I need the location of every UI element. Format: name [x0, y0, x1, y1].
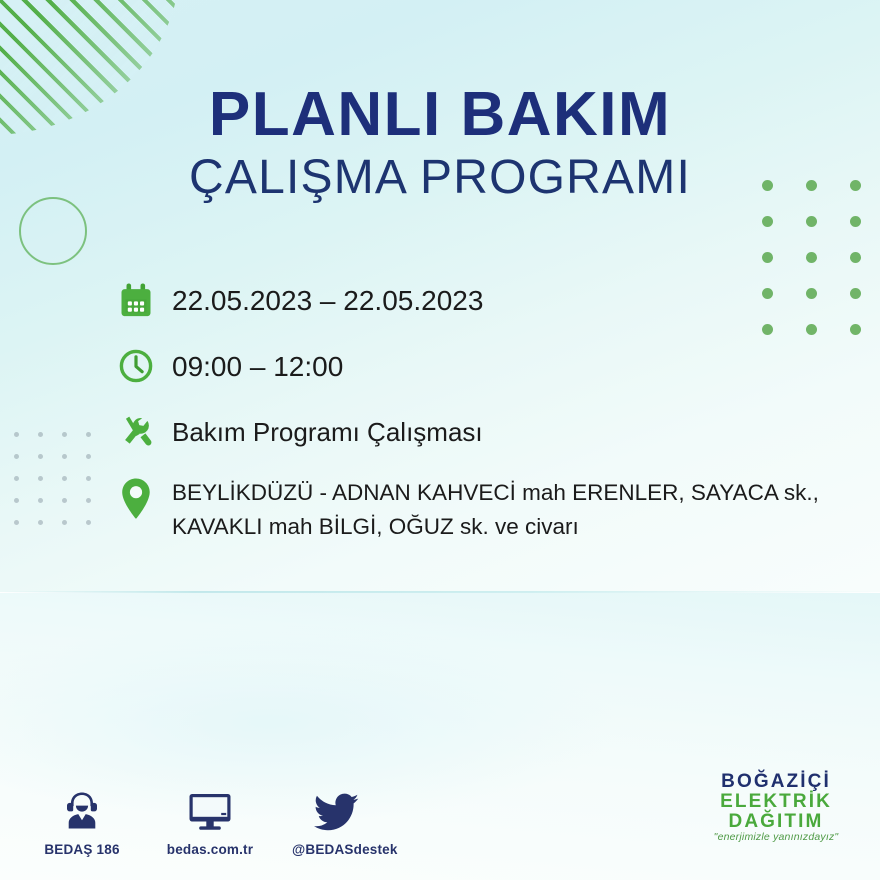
dot [38, 476, 43, 481]
dot [62, 498, 67, 503]
title-line-2: ÇALIŞMA PROGRAMI [0, 154, 880, 202]
dot [806, 252, 817, 263]
time-range-value: 09:00 – 12:00 [172, 340, 343, 386]
dot [38, 454, 43, 459]
work-type-value: Bakım Programı Çalışması [172, 406, 483, 449]
clock-icon [116, 340, 172, 392]
contact-website-label: bedas.com.tr [164, 842, 256, 857]
date-range-value: 22.05.2023 – 22.05.2023 [172, 274, 483, 320]
dot [86, 432, 91, 437]
contact-phone-label: BEDAŞ 186 [36, 842, 128, 857]
dot [86, 454, 91, 459]
brand-logo: BOĞAZİÇİ ELEKTRİK DAĞITIM "enerjimizle y… [696, 772, 856, 844]
dot [62, 476, 67, 481]
monitor-icon [164, 782, 256, 834]
dot [62, 520, 67, 525]
contact-twitter[interactable]: @BEDASdestek [292, 782, 384, 857]
detail-row-work-type: Bakım Programı Çalışması [116, 406, 836, 464]
brand-tagline: "enerjimizle yanınızdayız" [696, 832, 856, 843]
call-center-agent-icon [36, 782, 128, 834]
dot [14, 520, 19, 525]
dot [850, 324, 861, 335]
contact-phone[interactable]: BEDAŞ 186 [36, 782, 128, 857]
twitter-bird-icon [292, 782, 384, 834]
dot [762, 216, 773, 227]
map-pin-icon [116, 472, 172, 528]
dot [850, 216, 861, 227]
dot [86, 476, 91, 481]
dot [86, 498, 91, 503]
dot [850, 288, 861, 299]
dot [14, 476, 19, 481]
detail-row-time: 09:00 – 12:00 [116, 340, 836, 398]
location-line-2: KAVAKLI mah BİLGİ, OĞUZ sk. ve civarı [172, 510, 819, 544]
dot [38, 432, 43, 437]
footer-contacts: BEDAŞ 186 bedas.com.tr [36, 782, 384, 857]
brand-line-3: DAĞITIM [696, 812, 856, 832]
tools-icon [116, 406, 172, 458]
calendar-icon [116, 274, 172, 326]
detail-row-date: 22.05.2023 – 22.05.2023 [116, 274, 836, 332]
brand-line-2: ELEKTRİK [696, 792, 856, 812]
detail-row-location: BEYLİKDÜZÜ - ADNAN KAHVECİ mah ERENLER, … [116, 472, 836, 548]
dot [38, 520, 43, 525]
page-title: PLANLI BAKIM ÇALIŞMA PROGRAMI [0, 84, 880, 202]
dot-grid-left-decoration [14, 432, 110, 542]
contact-website[interactable]: bedas.com.tr [164, 782, 256, 857]
maintenance-details-list: 22.05.2023 – 22.05.2023 09:00 – 12:00 [116, 274, 836, 548]
dot [850, 252, 861, 263]
dot [762, 252, 773, 263]
dot [14, 432, 19, 437]
dot [14, 454, 19, 459]
dot [62, 454, 67, 459]
title-line-1: PLANLI BAKIM [0, 84, 880, 146]
dot [62, 432, 67, 437]
dot [806, 216, 817, 227]
panel-divider [0, 591, 880, 593]
dot [14, 498, 19, 503]
dot [38, 498, 43, 503]
dot [86, 520, 91, 525]
planned-maintenance-poster: PLANLI BAKIM ÇALIŞMA PROGRAMI [0, 0, 880, 880]
location-value: BEYLİKDÜZÜ - ADNAN KAHVECİ mah ERENLER, … [172, 472, 819, 544]
location-line-1: BEYLİKDÜZÜ - ADNAN KAHVECİ mah ERENLER, … [172, 476, 819, 510]
contact-twitter-label: @BEDASdestek [292, 842, 384, 857]
circle-outline-decoration [19, 197, 87, 265]
brand-line-1: BOĞAZİÇİ [696, 772, 856, 792]
